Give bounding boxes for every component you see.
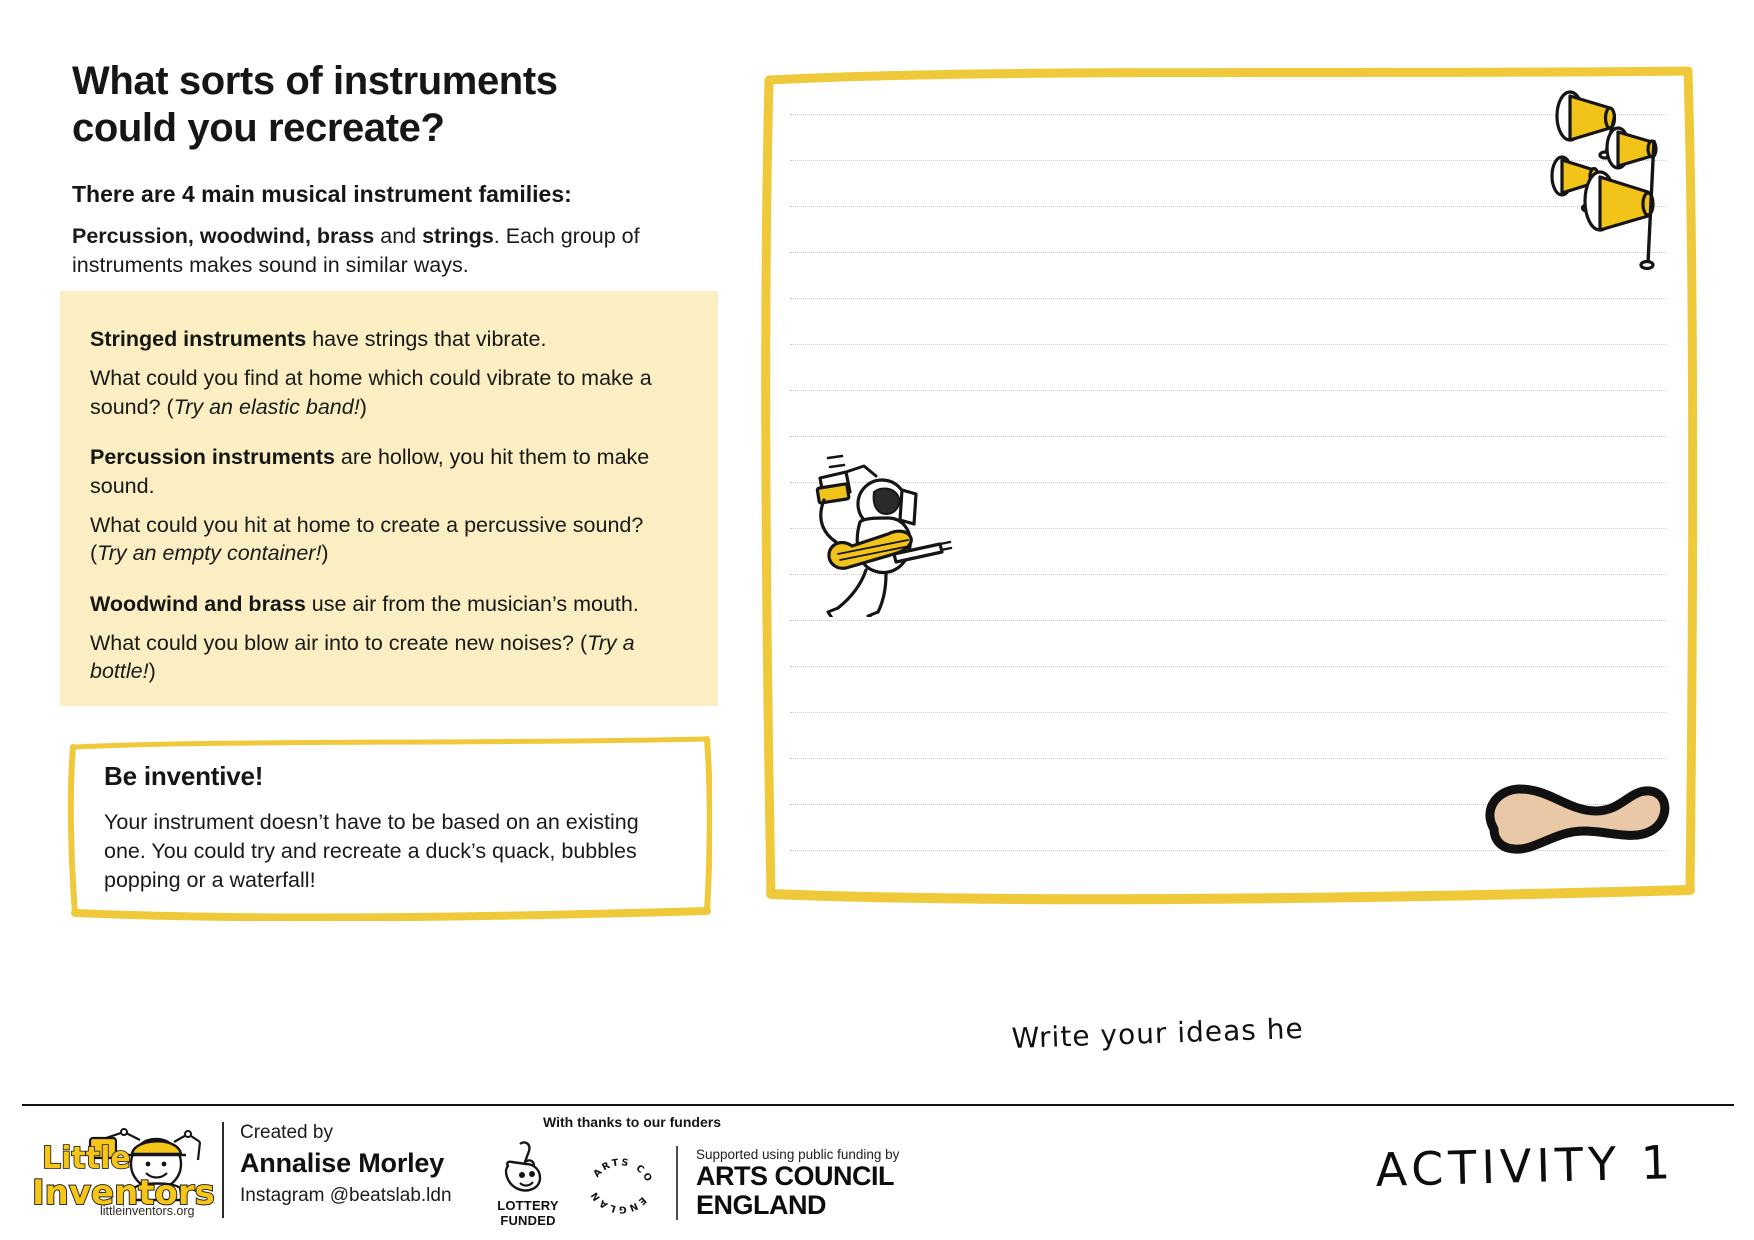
logo-word-little: Little xyxy=(42,1141,131,1176)
arts-council-text-block: Supported using public funding by ARTS C… xyxy=(696,1147,899,1218)
credit-author-name: Annalise Morley xyxy=(240,1148,470,1179)
family-question: What could you hit at home to create a p… xyxy=(90,511,678,568)
ace-name-line2: ENGLAND xyxy=(696,1191,899,1219)
band-path xyxy=(1490,789,1665,849)
family-question: What could you blow air into to create n… xyxy=(90,629,678,686)
family-heading-rest: have strings that vibrate. xyxy=(306,327,546,351)
family-question-text: What could you blow air into to create n… xyxy=(90,631,587,655)
intro-body: Percussion, woodwind, brass and strings.… xyxy=(72,222,662,279)
family-question-end: ) xyxy=(360,395,367,419)
family-heading: Stringed instruments have strings that v… xyxy=(90,325,678,353)
footer-divider-1 xyxy=(222,1122,224,1218)
little-inventors-url[interactable]: littleinventors.org xyxy=(100,1204,195,1218)
family-question: What could you find at home which could … xyxy=(90,364,678,421)
funders-label: With thanks to our funders xyxy=(482,1114,782,1130)
svg-text:ARTS COUNCIL: ARTS COUNCIL xyxy=(584,1146,655,1186)
arts-council-wheel-icon: ARTS COUNCIL ENGLAND xyxy=(584,1146,658,1220)
svg-text:ENGLAND: ENGLAND xyxy=(584,1146,648,1215)
intro-lead: There are 4 main musical instrument fami… xyxy=(72,180,732,210)
lottery-funded-logo: LOTTERY FUNDED xyxy=(482,1138,574,1228)
be-inventive-body: Your instrument doesn’t have to be based… xyxy=(104,808,664,895)
family-question-hint: Try an empty container! xyxy=(97,541,321,565)
family-heading: Percussion instruments are hollow, you h… xyxy=(90,443,678,500)
family-heading-bold: Stringed instruments xyxy=(90,327,306,351)
caption-text: Write your ideas here! xyxy=(1012,1014,1302,1055)
footer-divider-2 xyxy=(676,1146,678,1220)
footer: Little Inventors littleinventors.org Cre… xyxy=(0,1106,1754,1240)
handwriting-caption: Write your ideas here! xyxy=(1012,1014,1302,1062)
family-question-hint: Try an elastic band! xyxy=(174,395,360,419)
elastic-band-drawing xyxy=(1472,759,1672,869)
family-question-end: ) xyxy=(321,541,328,565)
instrument-families-box: Stringed instruments have strings that v… xyxy=(60,291,718,706)
family-heading-bold: Percussion instruments xyxy=(90,445,335,469)
activity-label-text: ACTIVITY 1 xyxy=(1375,1135,1676,1197)
write-ideas-panel[interactable] xyxy=(760,62,1700,907)
credit-instagram[interactable]: Instagram @beatslab.ldn xyxy=(240,1185,470,1207)
family-question-end: ) xyxy=(149,659,156,683)
family-item-percussion: Percussion instruments are hollow, you h… xyxy=(90,443,678,568)
ace-supported-line: Supported using public funding by xyxy=(696,1147,899,1162)
family-item-woodwind-brass: Woodwind and brass use air from the musi… xyxy=(90,590,678,686)
intro-families-bold: Percussion, woodwind, brass xyxy=(72,224,374,248)
intro-families-mid: and xyxy=(374,224,422,248)
funders-block: With thanks to our funders xyxy=(482,1114,782,1130)
family-heading-bold: Woodwind and brass xyxy=(90,592,306,616)
lottery-funded-label: LOTTERY FUNDED xyxy=(482,1198,574,1228)
intro-families-bold2: strings xyxy=(422,224,494,248)
be-inventive-box: Be inventive! Your instrument doesn’t ha… xyxy=(66,733,712,921)
astronaut-guitar-drawing xyxy=(790,442,955,622)
family-heading-rest: use air from the musician’s mouth. xyxy=(306,592,639,616)
left-column: What sorts of instruments could you recr… xyxy=(72,58,732,279)
be-inventive-title: Be inventive! xyxy=(104,761,678,792)
family-item-stringed: Stringed instruments have strings that v… xyxy=(90,325,678,421)
family-heading: Woodwind and brass use air from the musi… xyxy=(90,590,678,618)
be-inventive-content: Be inventive! Your instrument doesn’t ha… xyxy=(66,733,712,895)
activity-label: ACTIVITY 1 xyxy=(1372,1134,1702,1204)
write-ideas-caption: Write your ideas here! xyxy=(1012,1014,1302,1062)
horns-drawing xyxy=(1548,88,1678,283)
ace-name-line1: ARTS COUNCIL xyxy=(696,1162,899,1190)
credit-by-label: Created by xyxy=(240,1122,470,1144)
page-title: What sorts of instruments could you recr… xyxy=(72,58,732,152)
worksheet-page: What sorts of instruments could you recr… xyxy=(0,0,1754,1240)
funder-logos-row: LOTTERY FUNDED ARTS COUNCIL ENGLAND Supp… xyxy=(482,1138,899,1228)
credit-block: Created by Annalise Morley Instagram @be… xyxy=(240,1122,470,1207)
